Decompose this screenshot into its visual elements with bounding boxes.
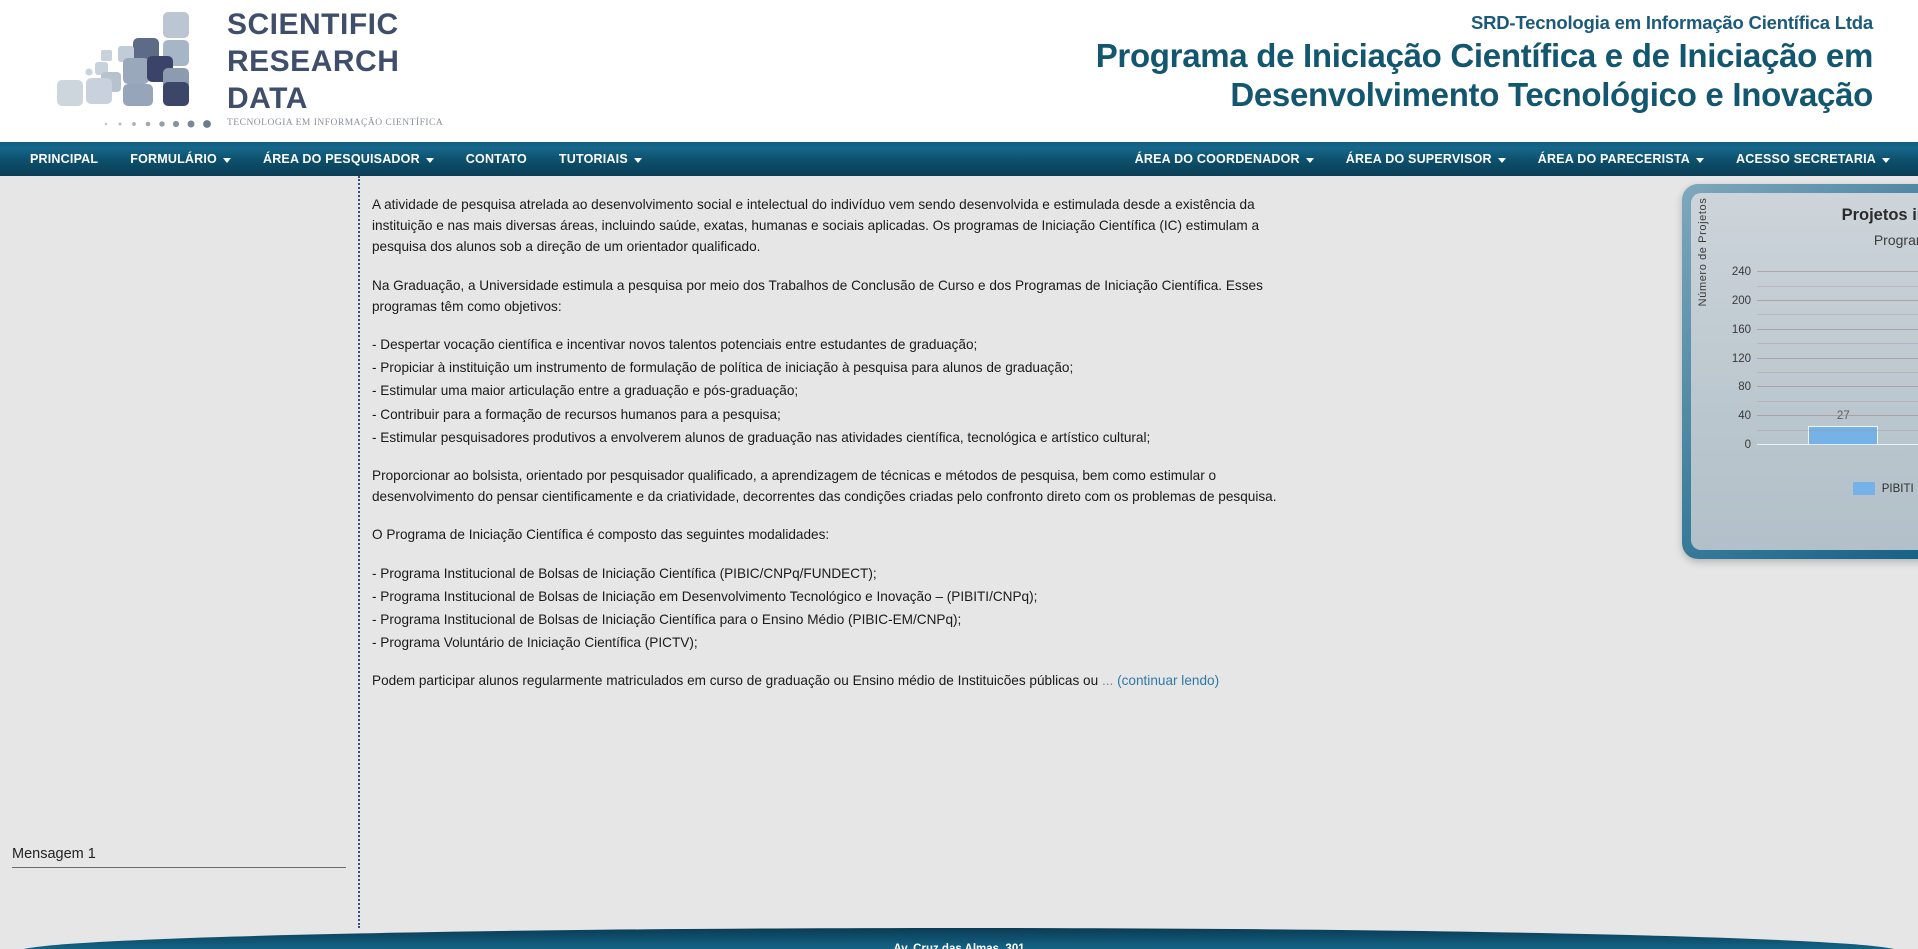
chevron-down-icon — [1498, 158, 1506, 163]
nav-item-formulario[interactable]: FORMULÁRIO — [114, 144, 247, 174]
bar-column-pibiti[interactable]: 27 — [1808, 265, 1878, 445]
modalities-list: - Programa Institucional de Bolsas de In… — [372, 563, 1312, 654]
chevron-down-icon — [426, 158, 434, 163]
footer-address: Av. Cruz das Almas, 301 — [18, 941, 1900, 949]
objectives-list: - Despertar vocação científica e incenti… — [372, 334, 1312, 448]
nav-item-acesso-secretaria[interactable]: ACESSO SECRETARIA — [1720, 144, 1906, 174]
paragraph-modalidades-intro: O Programa de Iniciação Científica é com… — [372, 524, 1312, 545]
chevron-down-icon — [1882, 158, 1890, 163]
page-header: SCIENTIFIC RESEARCH DATA TECNOLOGIA EM I… — [0, 0, 1918, 142]
main-content: A atividade de pesquisa atrelada ao dese… — [360, 176, 1918, 928]
page-title: Programa de Iniciação Científica e de In… — [1096, 37, 1873, 114]
article-body: A atividade de pesquisa atrelada ao dese… — [372, 194, 1312, 692]
chart-bars: 27 211 13 — [1757, 265, 1918, 445]
gridline — [1757, 358, 1918, 359]
nav-label: ACESSO SECRETARIA — [1736, 152, 1876, 166]
chart-container: Projetos inscritos por modalidade Progra… — [1691, 193, 1918, 550]
chart-y-tick: 80 — [1738, 381, 1751, 393]
gridline — [1757, 415, 1918, 416]
chart-y-tick: 160 — [1732, 324, 1751, 336]
company-name: SRD-Tecnologia em Informação Científica … — [1096, 12, 1873, 34]
paragraph-participacao: Podem participar alunos regularmente mat… — [372, 670, 1312, 691]
nav-item-tutoriais[interactable]: TUTORIAIS — [543, 144, 658, 174]
list-item: - Programa Institucional de Bolsas de In… — [372, 563, 1312, 584]
message-field[interactable]: Mensagem 1 — [12, 846, 346, 868]
gridline — [1757, 314, 1918, 315]
chart-subtitle: Programa de Iniciação Científica — [1691, 232, 1918, 248]
left-sidebar: Mensagem 1 — [0, 176, 360, 928]
gridline — [1757, 444, 1918, 446]
chevron-down-icon — [223, 158, 231, 163]
chart-x-tick-label: 2025 — [1757, 451, 1918, 463]
logo-squares-icon — [55, 10, 220, 115]
list-item: - Propiciar à instituição um instrumento… — [372, 357, 1312, 378]
logo-line-3: DATA — [227, 84, 399, 114]
program-title-line-2: Desenvolvimento Tecnológico e Inovação — [1096, 76, 1873, 115]
nav-label: ÁREA DO SUPERVISOR — [1346, 152, 1492, 166]
chart-gridlines: 27 211 13 040801201 — [1757, 265, 1918, 445]
legend-item-pibiti[interactable]: PIBITI — [1853, 482, 1914, 495]
gridline — [1757, 300, 1918, 301]
paragraph-graduacao: Na Graduação, a Universidade estimula a … — [372, 275, 1312, 317]
nav-label: TUTORIAIS — [559, 152, 628, 166]
logo-wordmark: SCIENTIFIC RESEARCH DATA — [227, 10, 399, 114]
nav-item-area-do-pesquisador[interactable]: ÁREA DO PESQUISADOR — [247, 144, 450, 174]
nav-label: ÁREA DO COORDENADOR — [1135, 152, 1300, 166]
nav-item-area-do-parecerista[interactable]: ÁREA DO PARECERISTA — [1522, 144, 1720, 174]
nav-label: FORMULÁRIO — [130, 152, 217, 166]
logo-line-1: SCIENTIFIC — [227, 10, 399, 40]
chart-y-tick: 240 — [1732, 266, 1751, 278]
nav-item-area-do-supervisor[interactable]: ÁREA DO SUPERVISOR — [1330, 144, 1522, 174]
nav-item-principal[interactable]: PRINCIPAL — [14, 144, 114, 174]
site-logo[interactable]: SCIENTIFIC RESEARCH DATA TECNOLOGIA EM I… — [55, 6, 395, 128]
continue-reading-link[interactable]: (continuar lendo) — [1117, 673, 1219, 688]
chart-y-tick: 0 — [1745, 439, 1751, 451]
nav-label: ÁREA DO PARECERISTA — [1538, 152, 1690, 166]
header-titles: SRD-Tecnologia em Informação Científica … — [1096, 12, 1873, 114]
gridline — [1757, 343, 1918, 344]
chart-y-axis-label: Número de Projetos — [1697, 197, 1709, 307]
gridline — [1757, 271, 1918, 272]
ellipsis: ... — [1102, 673, 1113, 688]
chevron-down-icon — [1696, 158, 1704, 163]
paragraph-intro: A atividade de pesquisa atrelada ao dese… — [372, 194, 1312, 258]
chart-y-tick: 120 — [1732, 353, 1751, 365]
chart-plot-area: Número de Projetos 27 211 — [1691, 255, 1918, 500]
main-navigation: PRINCIPAL FORMULÁRIO ÁREA DO PESQUISADOR… — [0, 142, 1918, 176]
logo-tagline: TECNOLOGIA EM INFORMAÇÃO CIENTÍFICA — [227, 118, 443, 128]
nav-group-right: ÁREA DO COORDENADOR ÁREA DO SUPERVISOR Á… — [1119, 144, 1906, 174]
nav-label: CONTATO — [466, 152, 527, 166]
page-footer: IP 177.102.3.193 : 1 Av. Cruz das Almas,… — [0, 928, 1918, 949]
logo-line-2: RESEARCH — [227, 47, 399, 77]
nav-group-left: PRINCIPAL FORMULÁRIO ÁREA DO PESQUISADOR… — [14, 144, 658, 174]
gridline — [1757, 372, 1918, 373]
message-label: Mensagem 1 — [12, 846, 346, 867]
nav-label: ÁREA DO PESQUISADOR — [263, 152, 420, 166]
paragraph-participacao-text: Podem participar alunos regularmente mat… — [372, 673, 1098, 688]
chart-title: Projetos inscritos por modalidade — [1691, 206, 1918, 225]
nav-item-area-do-coordenador[interactable]: ÁREA DO COORDENADOR — [1119, 144, 1330, 174]
list-item: - Estimular uma maior articulação entre … — [372, 380, 1312, 401]
chart-panel: Projetos inscritos por modalidade Progra… — [1682, 184, 1918, 559]
gridline — [1757, 386, 1918, 387]
list-item: - Despertar vocação científica e incenti… — [372, 334, 1312, 355]
gridline — [1757, 286, 1918, 287]
footer-bar: IP 177.102.3.193 : 1 Av. Cruz das Almas,… — [18, 928, 1900, 949]
chevron-down-icon — [634, 158, 642, 163]
nav-item-contato[interactable]: CONTATO — [450, 144, 543, 174]
list-item: - Programa Institucional de Bolsas de In… — [372, 609, 1312, 630]
gridline — [1757, 401, 1918, 402]
list-item: - Programa Institucional de Bolsas de In… — [372, 586, 1312, 607]
chart-legend: PIBITI PIBIC PIBIC-Jr — [1691, 482, 1918, 495]
logo-dots-icon — [103, 118, 221, 130]
gridline — [1757, 430, 1918, 431]
list-item: - Estimular pesquisadores produtivos a e… — [372, 427, 1312, 448]
chart-y-tick: 40 — [1738, 410, 1751, 422]
program-title-line-1: Programa de Iniciação Científica e de In… — [1096, 37, 1873, 76]
message-underline — [12, 867, 346, 868]
paragraph-bolsista: Proporcionar ao bolsista, orientado por … — [372, 465, 1312, 507]
legend-swatch — [1853, 482, 1875, 495]
nav-label: PRINCIPAL — [30, 152, 98, 166]
gridline — [1757, 329, 1918, 330]
bar-pibiti[interactable] — [1808, 426, 1878, 445]
page-body: Mensagem 1 A atividade de pesquisa atrel… — [0, 176, 1918, 928]
list-item: - Contribuir para a formação de recursos… — [372, 404, 1312, 425]
chart-y-tick: 200 — [1732, 295, 1751, 307]
legend-label: PIBITI — [1882, 483, 1914, 495]
list-item: - Programa Voluntário de Iniciação Cient… — [372, 632, 1312, 653]
chevron-down-icon — [1306, 158, 1314, 163]
footer-contact: Av. Cruz das Almas, 301 Horário de atend… — [18, 935, 1900, 949]
